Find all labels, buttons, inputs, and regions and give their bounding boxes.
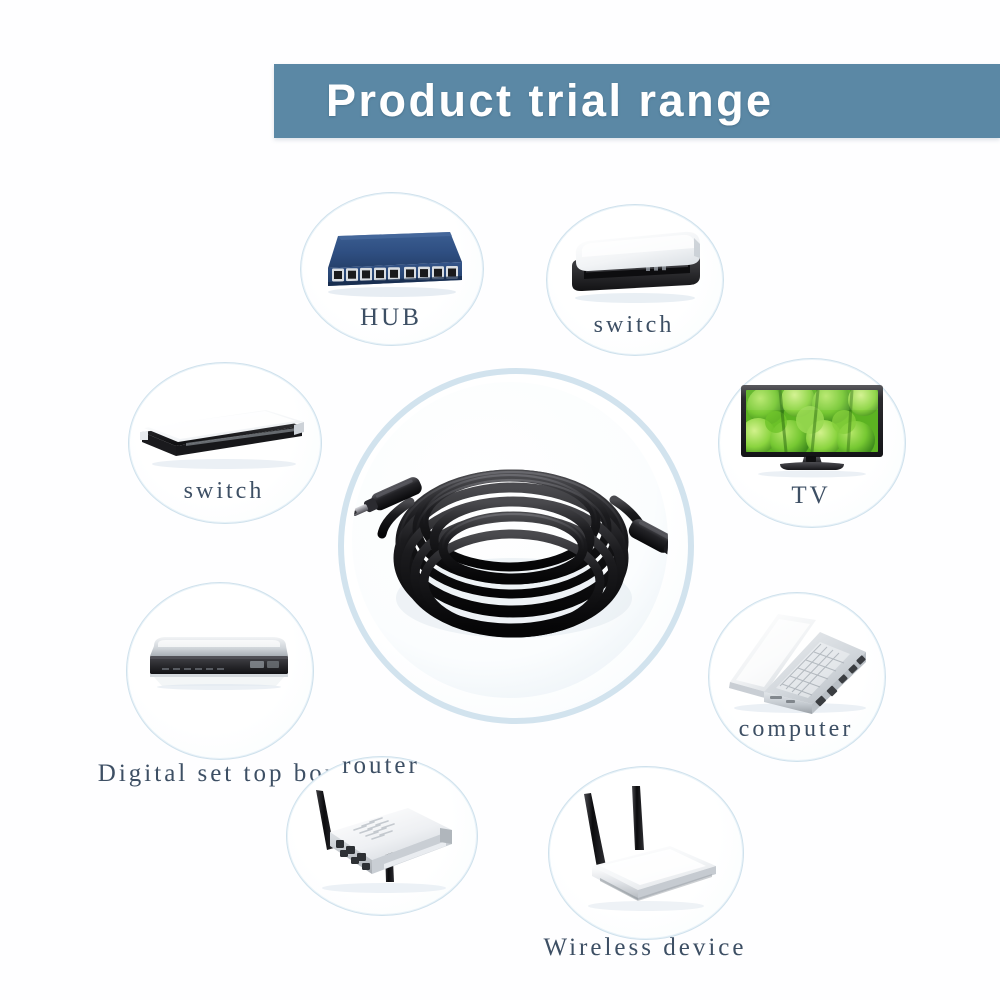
- node-switch-left[interactable]: switch: [128, 362, 320, 522]
- node-label-wireless: Wireless device: [518, 934, 772, 962]
- dc-power-extension-cable-icon: [352, 382, 668, 698]
- node-tv[interactable]: TV: [718, 358, 904, 526]
- node-wireless[interactable]: Wireless device: [548, 766, 742, 938]
- television-icon: [740, 384, 884, 478]
- node-label-switch-top: switch: [546, 312, 722, 339]
- infographic-canvas: Product trial range: [0, 0, 1000, 1000]
- node-label-router: router: [286, 752, 476, 780]
- node-label-switch-left: switch: [128, 478, 320, 505]
- set-top-box-icon: [140, 630, 298, 690]
- node-label-tv: TV: [718, 482, 904, 510]
- center-product-node: [338, 368, 682, 712]
- node-settopbox[interactable]: Digital set top box: [126, 582, 312, 758]
- wireless-device-icon: [566, 780, 724, 926]
- wifi-router-icon: [300, 784, 462, 896]
- node-label-computer: computer: [708, 716, 884, 743]
- node-hub[interactable]: HUB: [300, 192, 482, 344]
- network-switch-flat-icon: [138, 388, 310, 470]
- network-switch-white-icon: [562, 226, 708, 304]
- laptop-computer-icon: [720, 608, 872, 718]
- node-computer[interactable]: computer: [708, 592, 884, 760]
- node-router[interactable]: router: [286, 756, 476, 914]
- network-hub-icon: [318, 222, 466, 298]
- node-label-hub: HUB: [300, 304, 482, 332]
- title-banner: Product trial range: [274, 64, 1000, 138]
- page-title: Product trial range: [326, 75, 774, 127]
- node-switch-top[interactable]: switch: [546, 204, 722, 354]
